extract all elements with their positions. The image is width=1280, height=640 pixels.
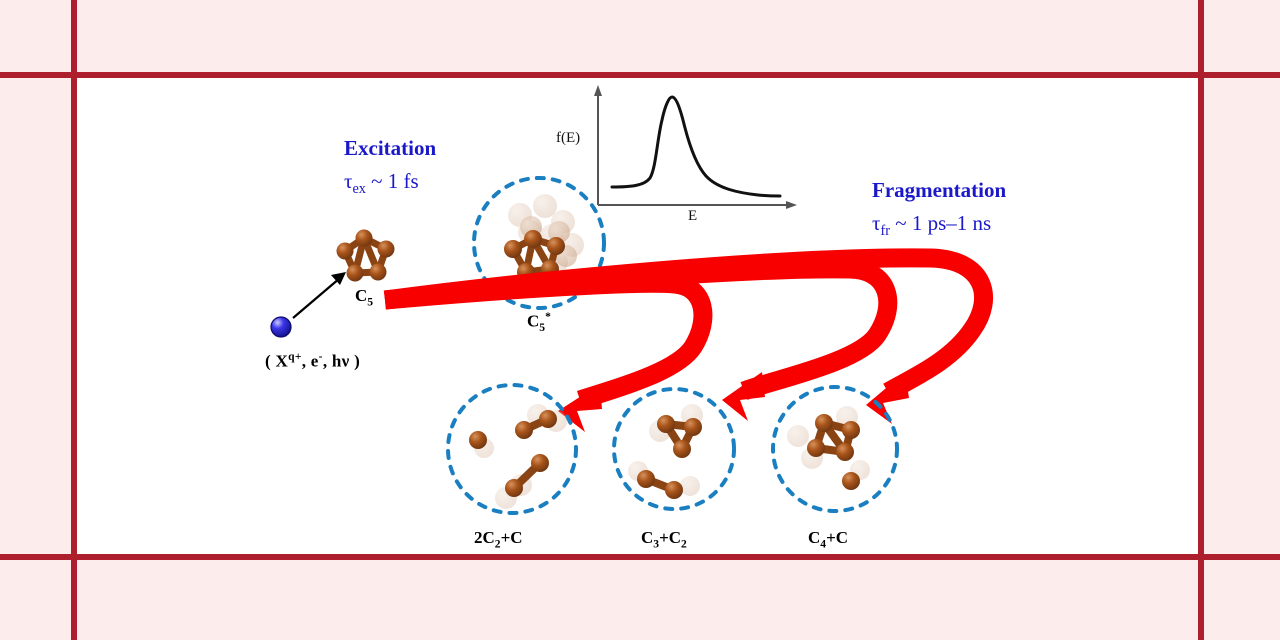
projectile-charge: q+ <box>288 350 302 363</box>
ch1-p0: C <box>641 528 653 547</box>
projectile-middle: , e <box>302 352 319 371</box>
excitation-title: Excitation <box>344 136 436 161</box>
label-channel-c3-c2: C3+C2 <box>641 528 687 550</box>
c5-subscript: 5 <box>367 295 373 308</box>
ch1-p2: +C <box>659 528 681 547</box>
projectile-close: , hν ) <box>323 352 360 371</box>
c5star-letter: C <box>527 312 539 331</box>
fragmentation-title: Fragmentation <box>872 178 1006 203</box>
label-channel-2c2-c: 2C2+C <box>474 528 523 550</box>
label-projectile: ( Xq+, e-, hν ) <box>265 350 360 372</box>
ch0-p0: 2C <box>474 528 495 547</box>
projectile-sphere <box>271 317 291 337</box>
chart-ylabel: f(E) <box>556 130 580 147</box>
chart-xlabel: E <box>688 208 697 225</box>
tau-subscript-fragmentation: fr <box>880 223 890 239</box>
label-channel-c4-c: C4+C <box>808 528 848 550</box>
tau-subscript-excitation: ex <box>352 181 365 197</box>
ch2-p0: C <box>808 528 820 547</box>
page-frame <box>0 0 1280 640</box>
figure-canvas: Excitation τex ~ 1 fs Fragmentation τfr … <box>0 0 1280 640</box>
projectile-open: ( X <box>265 352 288 371</box>
ch2-p2: +C <box>826 528 848 547</box>
ch1-p3: 2 <box>681 537 687 550</box>
excitation-tau-value: ~ 1 fs <box>366 169 419 193</box>
label-c5-ground: C5 <box>355 286 373 308</box>
ch0-p2: +C <box>501 528 523 547</box>
fragmentation-tau-value: ~ 1 ps–1 ns <box>890 211 991 235</box>
excitation-timescale: τex ~ 1 fs <box>344 169 419 198</box>
c5-letter: C <box>355 286 367 305</box>
fragmentation-timescale: τfr ~ 1 ps–1 ns <box>872 211 991 240</box>
c5star-asterisk: * <box>545 310 551 323</box>
label-c5-excited: C5* <box>527 310 551 334</box>
diagram-svg <box>0 0 1280 640</box>
